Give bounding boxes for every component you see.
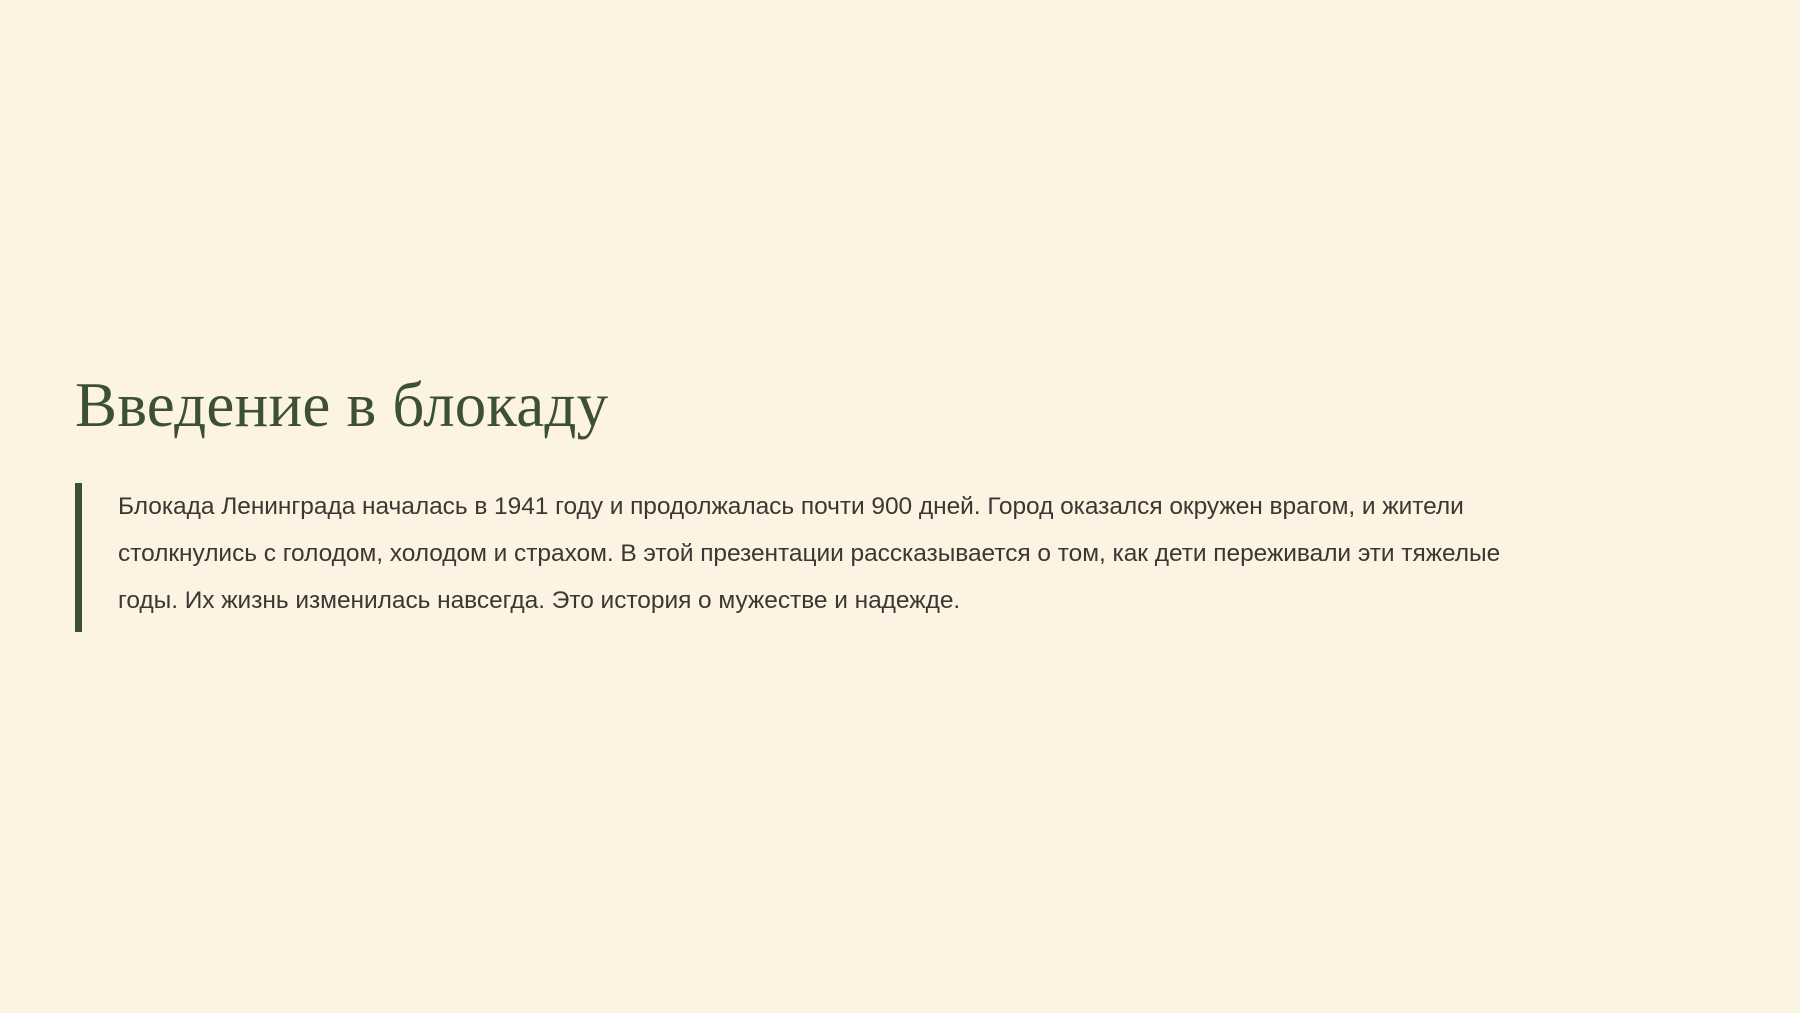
accent-bar [75, 483, 82, 632]
slide-content: Введение в блокаду Блокада Ленинграда на… [75, 372, 1735, 624]
slide-body-text: Блокада Ленинграда началась в 1941 году … [118, 483, 1518, 624]
body-block: Блокада Ленинграда началась в 1941 году … [75, 483, 1735, 624]
presentation-slide: Введение в блокаду Блокада Ленинграда на… [0, 0, 1800, 1013]
slide-title: Введение в блокаду [75, 372, 1735, 438]
